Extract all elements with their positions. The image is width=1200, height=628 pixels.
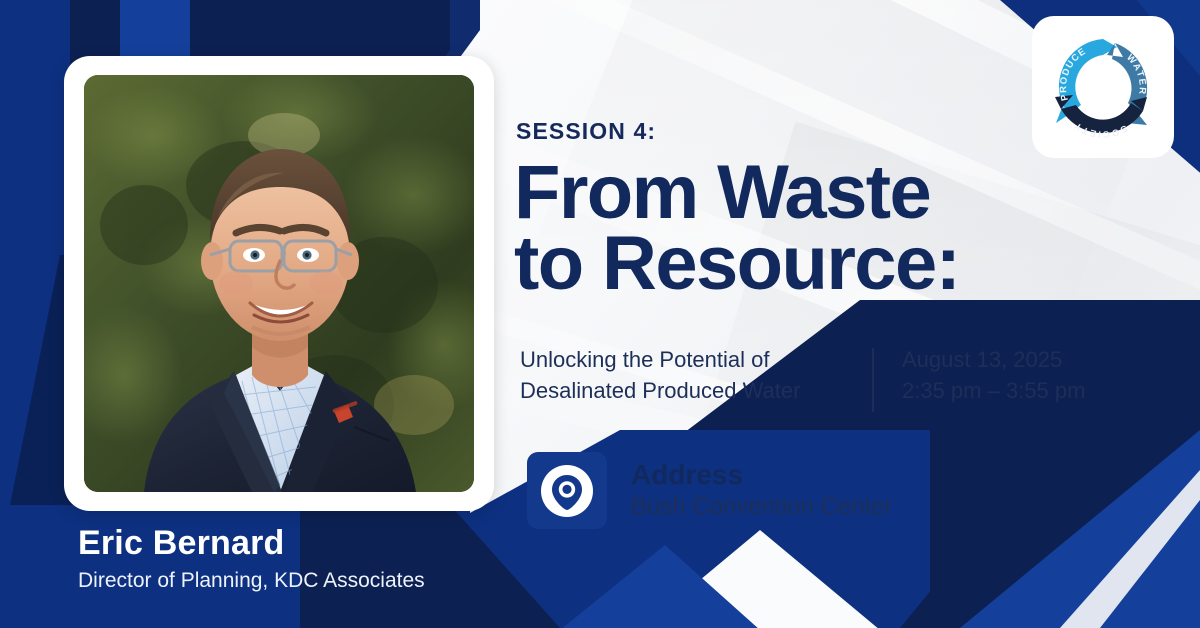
subtitle-datetime-row: Unlocking the Potential of Desalinated P… bbox=[520, 344, 1160, 412]
speaker-photo bbox=[84, 75, 474, 492]
session-kicker: SESSION 4: bbox=[516, 118, 656, 145]
subtitle-line-1: Unlocking the Potential of bbox=[520, 344, 872, 375]
address-block: Address Bush Convention Center bbox=[527, 452, 893, 529]
produced-water-society-logo: PRODUCED WATER SOCIETY bbox=[1032, 16, 1174, 158]
subtitle-line-2: Desalinated Produced Water bbox=[520, 375, 872, 406]
address-label: Address bbox=[631, 459, 893, 490]
speaker-name: Eric Bernard bbox=[78, 524, 425, 563]
address-venue: Bush Convention Center bbox=[631, 492, 893, 522]
session-datetime: August 13, 2025 2:35 pm – 3:55 pm bbox=[902, 344, 1085, 406]
session-subtitle: Unlocking the Potential of Desalinated P… bbox=[520, 344, 872, 406]
announcement-canvas: SESSION 4: From Waste to Resource: Unloc… bbox=[0, 0, 1200, 628]
speaker-role: Director of Planning, KDC Associates bbox=[78, 567, 425, 594]
session-date: August 13, 2025 bbox=[902, 344, 1085, 375]
speaker-block: Eric Bernard Director of Planning, KDC A… bbox=[78, 524, 425, 594]
title-line-2: to Resource: bbox=[514, 229, 1154, 300]
map-pin-icon bbox=[527, 452, 607, 529]
address-text: Address Bush Convention Center bbox=[631, 459, 893, 521]
page-title: From Waste to Resource: bbox=[514, 158, 1154, 299]
session-time: 2:35 pm – 3:55 pm bbox=[902, 375, 1085, 406]
vertical-divider bbox=[872, 348, 874, 412]
